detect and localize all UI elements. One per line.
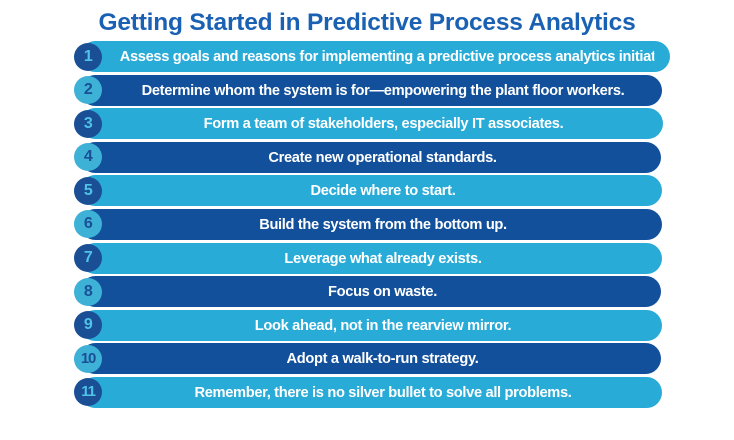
steps-list: Assess goals and reasons for implementin… [0,41,734,411]
step-text: Build the system from the bottom up. [120,209,647,240]
step-text: Decide where to start. [120,175,647,206]
step-row: Build the system from the bottom up.6 [0,209,734,240]
step-row: Assess goals and reasons for implementin… [0,41,734,72]
step-number-badge: 1 [74,43,102,71]
step-text: Create new operational standards. [120,142,646,173]
step-row: Adopt a walk-to-run strategy.10 [0,343,734,374]
step-text: Determine whom the system is for—empower… [120,75,647,106]
step-number-badge: 7 [74,244,102,272]
step-text: Form a team of stakeholders, especially … [120,108,648,139]
step-text: Assess goals and reasons for implementin… [120,41,655,72]
step-number-badge: 10 [74,345,102,373]
step-row: Remember, there is no silver bullet to s… [0,377,734,408]
infographic-canvas: Getting Started in Predictive Process An… [0,0,734,440]
step-row: Form a team of stakeholders, especially … [0,108,734,139]
step-text: Leverage what already exists. [120,243,647,274]
step-text: Focus on waste. [120,276,646,307]
step-number-badge: 3 [74,110,102,138]
step-row: Decide where to start.5 [0,175,734,206]
step-row: Create new operational standards.4 [0,142,734,173]
step-row: Leverage what already exists.7 [0,243,734,274]
step-row: Focus on waste.8 [0,276,734,307]
step-number-badge: 2 [74,76,102,104]
step-text: Look ahead, not in the rearview mirror. [120,310,647,341]
step-row: Determine whom the system is for—empower… [0,75,734,106]
step-row: Look ahead, not in the rearview mirror.9 [0,310,734,341]
step-number-badge: 5 [74,177,102,205]
page-title: Getting Started in Predictive Process An… [0,9,734,37]
step-text: Remember, there is no silver bullet to s… [120,377,647,408]
step-number-badge: 8 [74,278,102,306]
step-text: Adopt a walk-to-run strategy. [120,343,646,374]
